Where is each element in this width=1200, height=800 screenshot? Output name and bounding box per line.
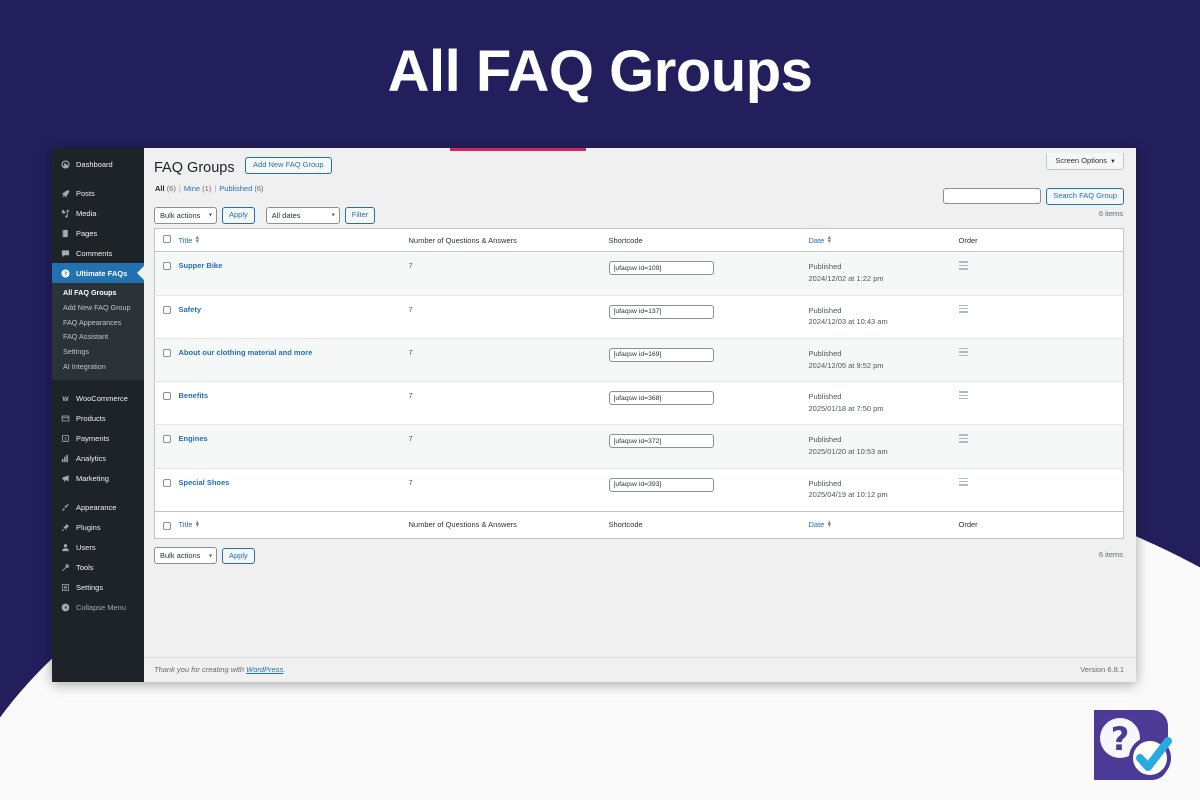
table-row: Benefits7Published2025/01/18 at 7:50 pm: [155, 382, 1124, 425]
sidebar-subitem-ai-integration[interactable]: AI Integration: [52, 360, 144, 375]
table-footer-row: Title▲▼ Number of Questions & Answers Sh…: [155, 511, 1124, 538]
table-row: Special Shoes7Published2025/04/19 at 10:…: [155, 468, 1124, 511]
sidebar-item-payments[interactable]: $ Payments: [52, 429, 144, 449]
drag-handle-icon[interactable]: [959, 478, 968, 488]
row-select-cell[interactable]: [155, 468, 179, 511]
row-date-cell: Published2024/12/02 at 1:22 pm: [809, 252, 959, 295]
sidebar-item-label: Payments: [76, 434, 109, 443]
row-select-cell[interactable]: [155, 295, 179, 338]
bulk-actions-select-bottom[interactable]: Bulk actions ▾: [154, 547, 217, 564]
shortcode-input[interactable]: [609, 305, 714, 319]
apply-button-top[interactable]: Apply: [222, 207, 255, 224]
sidebar-item-media[interactable]: Media: [52, 203, 144, 223]
row-shortcode-cell[interactable]: [609, 382, 809, 425]
sidebar-item-dashboard[interactable]: Dashboard: [52, 154, 144, 174]
sidebar-item-label: Comments: [76, 249, 112, 258]
products-icon: [59, 414, 72, 423]
sidebar-item-label: Ultimate FAQs: [76, 269, 127, 278]
footer-credit-suffix: .: [283, 665, 285, 674]
sort-arrows-icon: ▲▼: [194, 522, 200, 529]
table-row: Supper Bike7Published2024/12/02 at 1:22 …: [155, 252, 1124, 295]
sidebar-item-label: Dashboard: [76, 160, 113, 169]
view-link-all-label: All: [155, 184, 165, 193]
drag-handle-icon[interactable]: [959, 261, 968, 271]
sidebar-item-label: WooCommerce: [76, 394, 128, 403]
plugins-icon: [59, 523, 72, 532]
screen-options-toggle[interactable]: Screen Options▼: [1046, 153, 1124, 170]
row-order-cell[interactable]: [959, 382, 1124, 425]
comment-icon: [59, 249, 72, 258]
column-header-count: Number of Questions & Answers: [409, 229, 609, 252]
sidebar-item-appearance[interactable]: Appearance: [52, 498, 144, 518]
row-checkbox[interactable]: [163, 306, 171, 314]
view-link-separator-1: |: [179, 184, 181, 193]
row-count-cell: 7: [409, 425, 609, 468]
sidebar-item-label: Marketing: [76, 474, 109, 483]
collapse-arrow-icon: [59, 603, 72, 612]
search-box[interactable]: Search FAQ Group: [943, 188, 1124, 205]
row-count-cell: 7: [409, 338, 609, 381]
shortcode-input[interactable]: [609, 434, 714, 448]
bulk-actions-select-bottom-value: Bulk actions: [160, 551, 200, 560]
table-body: Supper Bike7Published2024/12/02 at 1:22 …: [155, 252, 1124, 512]
row-title-link[interactable]: Special Shoes: [179, 478, 230, 487]
sidebar-item-label: Products: [76, 414, 106, 423]
view-link-published[interactable]: Published (6): [219, 184, 263, 193]
sidebar-item-label: Settings: [76, 583, 103, 592]
row-date-wrap: Published2024/12/02 at 1:22 pm: [809, 261, 959, 283]
sidebar-item-pages[interactable]: Pages: [52, 223, 144, 243]
page-heading: FAQ Groups: [154, 160, 235, 177]
row-date-text: 2024/12/02 at 1:22 pm: [809, 274, 884, 283]
sidebar-subitem-settings[interactable]: Settings: [52, 345, 144, 360]
table-row: About our clothing material and more7Pub…: [155, 338, 1124, 381]
woocommerce-icon: W: [59, 394, 72, 403]
row-select-cell[interactable]: [155, 338, 179, 381]
row-shortcode-cell[interactable]: [609, 338, 809, 381]
row-count-cell: 7: [409, 382, 609, 425]
displaying-num-bottom: 6 items: [1099, 550, 1123, 559]
row-date-cell: Published2025/01/18 at 7:50 pm: [809, 382, 959, 425]
chevron-down-icon: ▾: [332, 212, 335, 219]
row-date-cell: Published2024/12/03 at 10:43 am: [809, 295, 959, 338]
row-date-wrap: Published2025/04/19 at 10:12 pm: [809, 478, 959, 500]
row-title-cell[interactable]: About our clothing material and more: [179, 338, 409, 381]
column-footer-title[interactable]: Title▲▼: [179, 511, 409, 538]
status-badge: Published: [809, 391, 959, 403]
row-title-cell[interactable]: Engines: [179, 425, 409, 468]
media-icon: [59, 209, 72, 218]
sidebar-item-woocommerce[interactable]: W WooCommerce: [52, 389, 144, 409]
page-icon: [59, 229, 72, 238]
sidebar-item-label: Posts: [76, 189, 95, 198]
table-header-row: Title▲▼ Number of Questions & Answers Sh…: [155, 229, 1124, 252]
sidebar-item-label: Users: [76, 543, 96, 552]
sidebar-item-label: Plugins: [76, 523, 101, 532]
sidebar-item-posts[interactable]: Posts: [52, 183, 144, 203]
sidebar-item-settings[interactable]: Settings: [52, 578, 144, 598]
displaying-num-top: 6 items: [1099, 209, 1123, 218]
sidebar-subitem-all-faq-groups[interactable]: All FAQ Groups: [52, 286, 144, 301]
select-all-checkbox-footer[interactable]: [163, 522, 171, 530]
select-all-footer[interactable]: [155, 511, 179, 538]
row-title-link[interactable]: Benefits: [179, 391, 209, 400]
row-select-cell[interactable]: [155, 252, 179, 295]
row-title-cell[interactable]: Benefits: [179, 382, 409, 425]
tools-wrench-icon: [59, 563, 72, 572]
sidebar-divider: [52, 174, 144, 183]
table-row: Engines7Published2025/01/20 at 10:53 am: [155, 425, 1124, 468]
view-link-mine-count: (1): [202, 184, 211, 193]
search-faq-group-button[interactable]: Search FAQ Group: [1046, 188, 1124, 205]
select-all-header[interactable]: [155, 229, 179, 252]
row-date-cell: Published2025/01/20 at 10:53 am: [809, 425, 959, 468]
settings-gear-icon: [59, 583, 72, 592]
faq-groups-table: Title▲▼ Number of Questions & Answers Sh…: [154, 228, 1124, 539]
shortcode-input[interactable]: [609, 391, 714, 405]
row-shortcode-cell[interactable]: [609, 252, 809, 295]
apply-button-bottom[interactable]: Apply: [222, 548, 255, 565]
admin-footer: Thank you for creating with WordPress. V…: [144, 657, 1136, 682]
chevron-down-icon: ▾: [209, 552, 212, 559]
row-title-cell[interactable]: Supper Bike: [179, 252, 409, 295]
admin-sidebar[interactable]: Dashboard Posts Media Pages Commen: [52, 148, 144, 682]
column-header-shortcode: Shortcode: [609, 229, 809, 252]
view-link-separator-2: |: [214, 184, 216, 193]
status-badge: Published: [809, 478, 959, 490]
row-date-text: 2025/04/19 at 10:12 pm: [809, 490, 888, 499]
row-shortcode-cell[interactable]: [609, 295, 809, 338]
column-header-title-label[interactable]: Title: [179, 236, 193, 245]
tablenav-bottom[interactable]: Bulk actions ▾ Apply 6 items: [154, 547, 1124, 565]
row-date-cell: Published2024/12/05 at 9:52 pm: [809, 338, 959, 381]
row-title-link[interactable]: Supper Bike: [179, 261, 223, 270]
sidebar-item-products[interactable]: Products: [52, 409, 144, 429]
sidebar-item-label: Tools: [76, 563, 94, 572]
date-filter-select[interactable]: All dates ▾: [266, 207, 340, 224]
svg-text:?: ?: [1111, 720, 1130, 758]
drag-handle-icon[interactable]: [959, 391, 968, 401]
row-count-cell: 7: [409, 295, 609, 338]
row-count-cell: 7: [409, 468, 609, 511]
sidebar-item-collapse-menu[interactable]: Collapse Menu: [52, 598, 144, 618]
screen-options-label: Screen Options: [1055, 156, 1107, 165]
row-title-cell[interactable]: Safety: [179, 295, 409, 338]
top-accent-bar: [450, 148, 586, 151]
search-input[interactable]: [943, 188, 1041, 204]
row-title-cell[interactable]: Special Shoes: [179, 468, 409, 511]
row-order-cell[interactable]: [959, 468, 1124, 511]
add-new-faq-group-button[interactable]: Add New FAQ Group: [245, 157, 331, 174]
filter-button[interactable]: Filter: [345, 207, 376, 224]
bulk-actions-select-top-value: Bulk actions: [160, 211, 200, 220]
column-footer-order: Order: [959, 511, 1124, 538]
sidebar-subitem-add-new-faq-group[interactable]: Add New FAQ Group: [52, 301, 144, 316]
view-link-published-count: (6): [254, 184, 263, 193]
row-date-text: 2025/01/18 at 7:50 pm: [809, 404, 884, 413]
sidebar-item-comments[interactable]: Comments: [52, 243, 144, 263]
view-link-all-count: (6): [167, 184, 176, 193]
chevron-down-icon: ▾: [209, 212, 212, 219]
sidebar-item-label: Appearance: [76, 503, 116, 512]
row-checkbox[interactable]: [163, 435, 171, 443]
svg-text:?: ?: [64, 271, 67, 277]
status-badge: Published: [809, 348, 959, 360]
sidebar-divider: [52, 489, 144, 498]
payments-icon: $: [59, 434, 72, 443]
column-footer-title-label[interactable]: Title: [179, 520, 193, 529]
row-date-cell: Published2025/04/19 at 10:12 pm: [809, 468, 959, 511]
row-count-cell: 7: [409, 252, 609, 295]
column-header-date[interactable]: Date▲▼: [809, 229, 959, 252]
view-link-mine-label[interactable]: Mine: [184, 184, 200, 193]
sidebar-submenu-ultimate-faqs[interactable]: All FAQ Groups Add New FAQ Group FAQ App…: [52, 283, 144, 380]
row-order-cell[interactable]: [959, 338, 1124, 381]
appearance-brush-icon: [59, 503, 72, 512]
bulk-actions-select-top[interactable]: Bulk actions ▾: [154, 207, 217, 224]
view-link-all[interactable]: All (6): [155, 184, 176, 193]
row-date-wrap: Published2024/12/03 at 10:43 am: [809, 305, 959, 327]
sidebar-subitem-faq-assistant[interactable]: FAQ Assistant: [52, 330, 144, 345]
drag-handle-icon[interactable]: [959, 305, 968, 315]
view-link-mine[interactable]: Mine (1): [184, 184, 212, 193]
column-footer-shortcode: Shortcode: [609, 511, 809, 538]
status-badge: Published: [809, 261, 959, 273]
row-order-cell[interactable]: [959, 425, 1124, 468]
row-checkbox[interactable]: [163, 479, 171, 487]
date-filter-select-value: All dates: [272, 211, 301, 220]
page-title: All FAQ Groups: [0, 42, 1200, 103]
drag-handle-icon[interactable]: [959, 348, 968, 358]
row-date-wrap: Published2025/01/18 at 7:50 pm: [809, 391, 959, 413]
shortcode-input[interactable]: [609, 261, 714, 275]
row-date-wrap: Published2024/12/05 at 9:52 pm: [809, 348, 959, 370]
status-badge: Published: [809, 434, 959, 446]
row-date-text: 2025/01/20 at 10:53 am: [809, 447, 888, 456]
status-badge: Published: [809, 305, 959, 317]
sidebar-item-label: Collapse Menu: [76, 603, 126, 612]
row-order-cell[interactable]: [959, 252, 1124, 295]
column-footer-date-label[interactable]: Date: [809, 520, 825, 529]
sidebar-item-label: Pages: [76, 229, 97, 238]
row-title-link[interactable]: About our clothing material and more: [179, 348, 313, 357]
sidebar-item-label: Analytics: [76, 454, 106, 463]
footer-credit-prefix: Thank you for creating with: [154, 665, 246, 674]
sidebar-item-tools[interactable]: Tools: [52, 558, 144, 578]
megaphone-icon: [59, 474, 72, 483]
sidebar-subitem-faq-appearances[interactable]: FAQ Appearances: [52, 316, 144, 331]
row-shortcode-cell[interactable]: [609, 468, 809, 511]
footer-version: Version 6.8.1: [1080, 665, 1124, 674]
select-all-checkbox[interactable]: [163, 235, 171, 243]
row-date-text: 2024/12/05 at 9:52 pm: [809, 361, 884, 370]
sort-arrows-icon: ▲▼: [194, 237, 200, 244]
question-circle-icon: ?: [59, 269, 72, 278]
sort-arrows-icon: ▲▼: [826, 522, 832, 529]
sidebar-item-users[interactable]: Users: [52, 538, 144, 558]
row-title-link[interactable]: Safety: [179, 305, 202, 314]
svg-text:W: W: [62, 397, 69, 403]
tablenav-top[interactable]: Bulk actions ▾ Apply All dates ▾ Filter …: [154, 206, 1124, 224]
sidebar-item-analytics[interactable]: Analytics: [52, 449, 144, 469]
column-header-date-label[interactable]: Date: [809, 236, 825, 245]
column-header-title[interactable]: Title▲▼: [179, 229, 409, 252]
row-order-cell[interactable]: [959, 295, 1124, 338]
column-header-order: Order: [959, 229, 1124, 252]
row-title-link[interactable]: Engines: [179, 434, 208, 443]
wordpress-link[interactable]: WordPress: [246, 665, 283, 674]
users-icon: [59, 543, 72, 552]
admin-content: Screen Options▼ FAQ Groups Add New FAQ G…: [144, 148, 1136, 682]
table-row: Safety7Published2024/12/03 at 10:43 am: [155, 295, 1124, 338]
row-date-wrap: Published2025/01/20 at 10:53 am: [809, 434, 959, 456]
row-checkbox[interactable]: [163, 392, 171, 400]
sidebar-divider: [52, 380, 144, 389]
wordpress-admin-screenshot: Dashboard Posts Media Pages Commen: [52, 148, 1136, 682]
dashboard-icon: [59, 160, 72, 169]
svg-text:$: $: [64, 437, 67, 443]
view-link-published-label[interactable]: Published: [219, 184, 252, 193]
row-date-text: 2024/12/03 at 10:43 am: [809, 317, 888, 326]
row-select-cell[interactable]: [155, 382, 179, 425]
drag-handle-icon[interactable]: [959, 434, 968, 444]
ultimate-faqs-logo: ?: [1076, 700, 1188, 790]
sidebar-item-ultimate-faqs[interactable]: ? Ultimate FAQs: [52, 263, 144, 283]
row-checkbox[interactable]: [163, 349, 171, 357]
chevron-down-icon: ▼: [1110, 159, 1116, 165]
column-footer-date[interactable]: Date▲▼: [809, 511, 959, 538]
sidebar-item-plugins[interactable]: Plugins: [52, 518, 144, 538]
column-footer-count: Number of Questions & Answers: [409, 511, 609, 538]
shortcode-input[interactable]: [609, 478, 714, 492]
row-select-cell[interactable]: [155, 425, 179, 468]
pin-icon: [59, 189, 72, 198]
row-checkbox[interactable]: [163, 262, 171, 270]
row-shortcode-cell[interactable]: [609, 425, 809, 468]
sort-arrows-icon: ▲▼: [826, 237, 832, 244]
analytics-icon: [59, 454, 72, 463]
shortcode-input[interactable]: [609, 348, 714, 362]
footer-credit: Thank you for creating with WordPress.: [154, 665, 285, 674]
sidebar-item-marketing[interactable]: Marketing: [52, 469, 144, 489]
sidebar-item-label: Media: [76, 209, 96, 218]
